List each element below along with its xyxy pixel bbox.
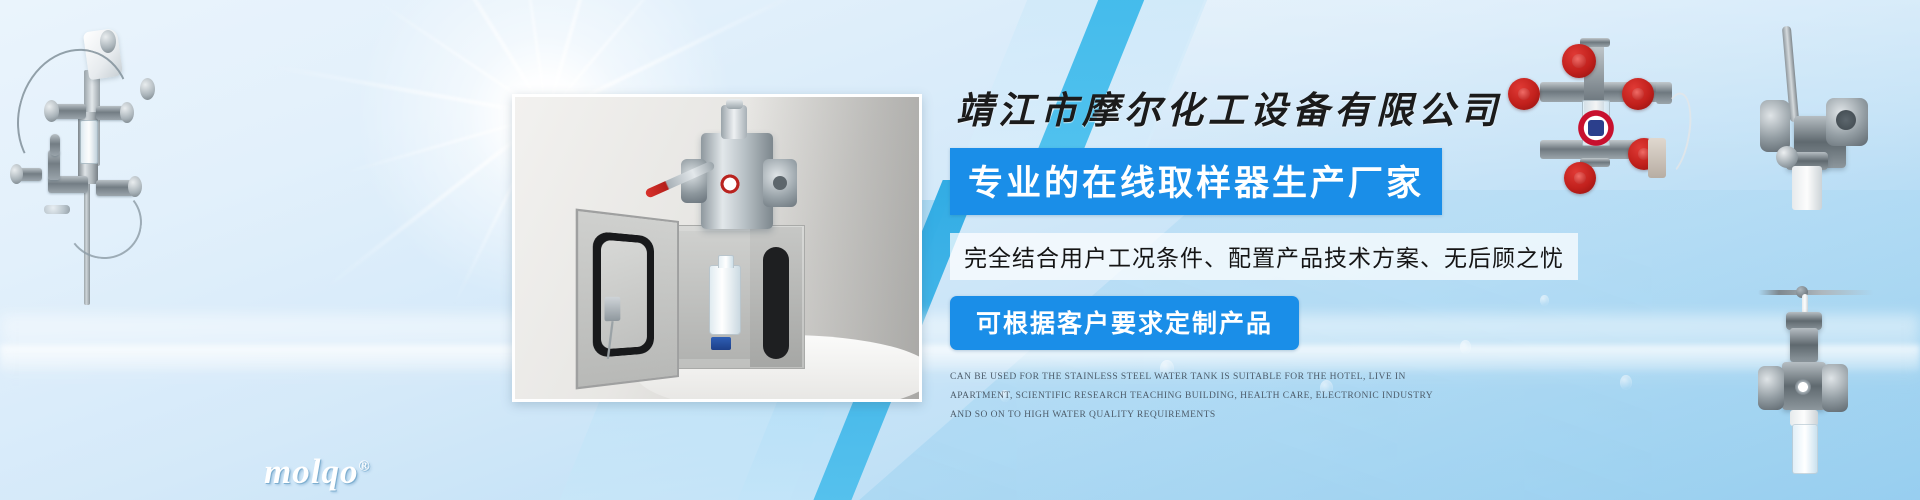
product-photo-sampling-cabinet[interactable] [512, 94, 922, 402]
english-description: CAN BE USED FOR THE STAINLESS STEEL WATE… [950, 368, 1440, 425]
blue-cap [711, 337, 731, 350]
watermark-logo: molqo® [264, 452, 371, 492]
registered-mark: ® [358, 458, 370, 474]
valve-brand-seal [719, 173, 741, 195]
sample-bottle [709, 265, 741, 335]
valve-right-flange [763, 159, 797, 207]
headline-badge: 专业的在线取样器生产厂家 [950, 148, 1442, 215]
promo-banner: 靖江市摩尔化工设备有限公司 专业的在线取样器生产厂家 完全结合用户工况条件、配置… [0, 0, 1920, 500]
banner-text-block: 靖江市摩尔化工设备有限公司 专业的在线取样器生产厂家 完全结合用户工况条件、配置… [950, 80, 1710, 425]
company-name: 靖江市摩尔化工设备有限公司 [956, 80, 1710, 134]
cabinet-handle [763, 247, 789, 359]
subheadline: 完全结合用户工况条件、配置产品技术方案、无后顾之忧 [950, 233, 1578, 280]
valve-bonnet [721, 105, 747, 139]
lever-handle-valve [1760, 20, 1920, 210]
bar-handle-sampling-valve [1760, 270, 1920, 480]
left-product-sampler [0, 0, 200, 320]
valve-knob [726, 99, 743, 109]
watermark-text: molqo [264, 452, 358, 491]
custom-product-pill[interactable]: 可根据客户要求定制产品 [950, 296, 1299, 350]
cabinet-door [576, 208, 679, 389]
